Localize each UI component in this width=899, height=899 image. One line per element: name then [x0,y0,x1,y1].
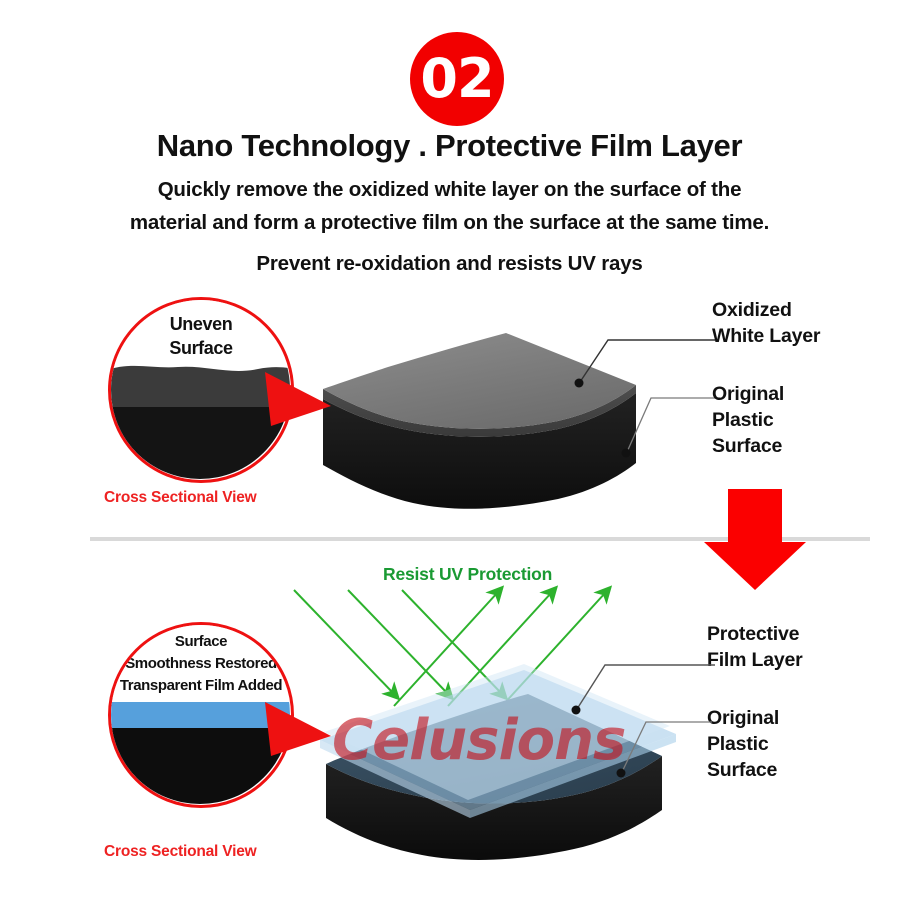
description-line-1: Quickly remove the oxidized white layer … [0,178,899,202]
callout-top-caption: Cross Sectional View [104,489,257,507]
label-original-top-line-3: Surface [712,433,784,459]
description-line-3: Prevent re-oxidation and resists UV rays [0,252,899,276]
label-oxidized-line-2: White Layer [712,323,820,349]
restored-surface-cross-section-graphic [110,624,290,804]
callout-bottom-text-1: Surface [111,633,291,650]
callout-pointer-bottom-icon [265,700,335,760]
callout-bottom-text-2: Smoothness Restored [111,655,291,672]
page-title: Nano Technology . Protective Film Layer [0,128,899,164]
callout-pointer-top-icon [265,370,335,430]
leader-line-protective-film [555,655,720,717]
infographic-canvas: 02 Nano Technology . Protective Film Lay… [0,0,899,899]
label-oxidized-white-layer: Oxidized White Layer [712,297,820,349]
label-original-top-line-1: Original [712,381,784,407]
label-oxidized-line-1: Oxidized [712,297,820,323]
callout-bottom-caption: Cross Sectional View [104,843,257,861]
callout-bottom-text-3: Transparent Film Added [111,677,291,694]
step-number-text: 02 [420,52,493,106]
label-original-plastic-surface-top: Original Plastic Surface [712,381,784,459]
leader-line-original-bottom [608,714,718,780]
label-protective-film-layer: Protective Film Layer [707,621,803,673]
label-original-top-line-2: Plastic [712,407,784,433]
down-arrow-icon [700,487,810,592]
label-protective-line-1: Protective [707,621,803,647]
callout-top-text-1: Uneven [111,314,291,335]
step-number-badge: 02 [410,32,504,126]
label-protective-line-2: Film Layer [707,647,803,673]
leader-line-original-top [615,390,725,458]
description-line-2: material and form a protective film on t… [0,211,899,235]
callout-top-text-2: Surface [111,338,291,359]
leader-line-oxidized [560,330,720,390]
